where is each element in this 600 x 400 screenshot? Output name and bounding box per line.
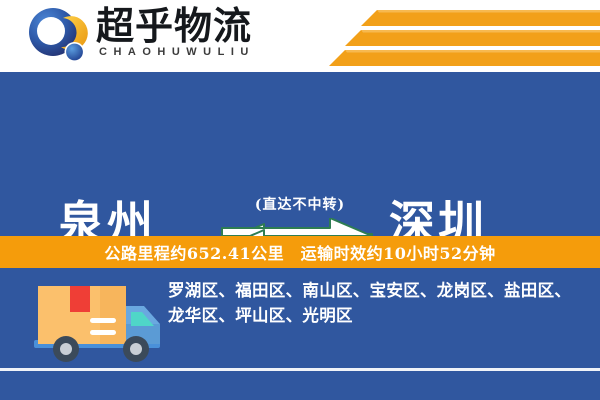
coverage-districts: 罗湖区、福田区、南山区、宝安区、龙岗区、盐田区、龙华区、坪山区、光明区 <box>168 278 586 328</box>
road-line <box>0 368 600 371</box>
coverage-section: 罗湖区、福田区、南山区、宝安区、龙岗区、盐田区、龙华区、坪山区、光明区 <box>0 268 600 400</box>
distance-duration-bar: 公路里程约652.41公里 运输时效约10小时52分钟 <box>0 236 600 268</box>
route-banner: 泉州 (直达不中转) 【往返运输】 深圳 <box>0 72 600 236</box>
distance-duration-text: 公路里程约652.41公里 运输时效约10小时52分钟 <box>104 240 495 264</box>
header: 超乎物流 CHAOHUWULIU <box>0 0 600 72</box>
logistics-route-poster: 超乎物流 CHAOHUWULIU 泉州 (直达不中转) 【往返运输】 <box>0 0 600 400</box>
orange-stripes-icon <box>320 8 600 66</box>
delivery-truck-icon <box>28 278 168 370</box>
circle-crescent-logo-icon <box>26 7 88 65</box>
brand-name-cn: 超乎物流 <box>96 6 252 46</box>
direct-route-note: (直达不中转) <box>0 194 600 214</box>
brand-name-en: CHAOHUWULIU <box>99 46 255 58</box>
